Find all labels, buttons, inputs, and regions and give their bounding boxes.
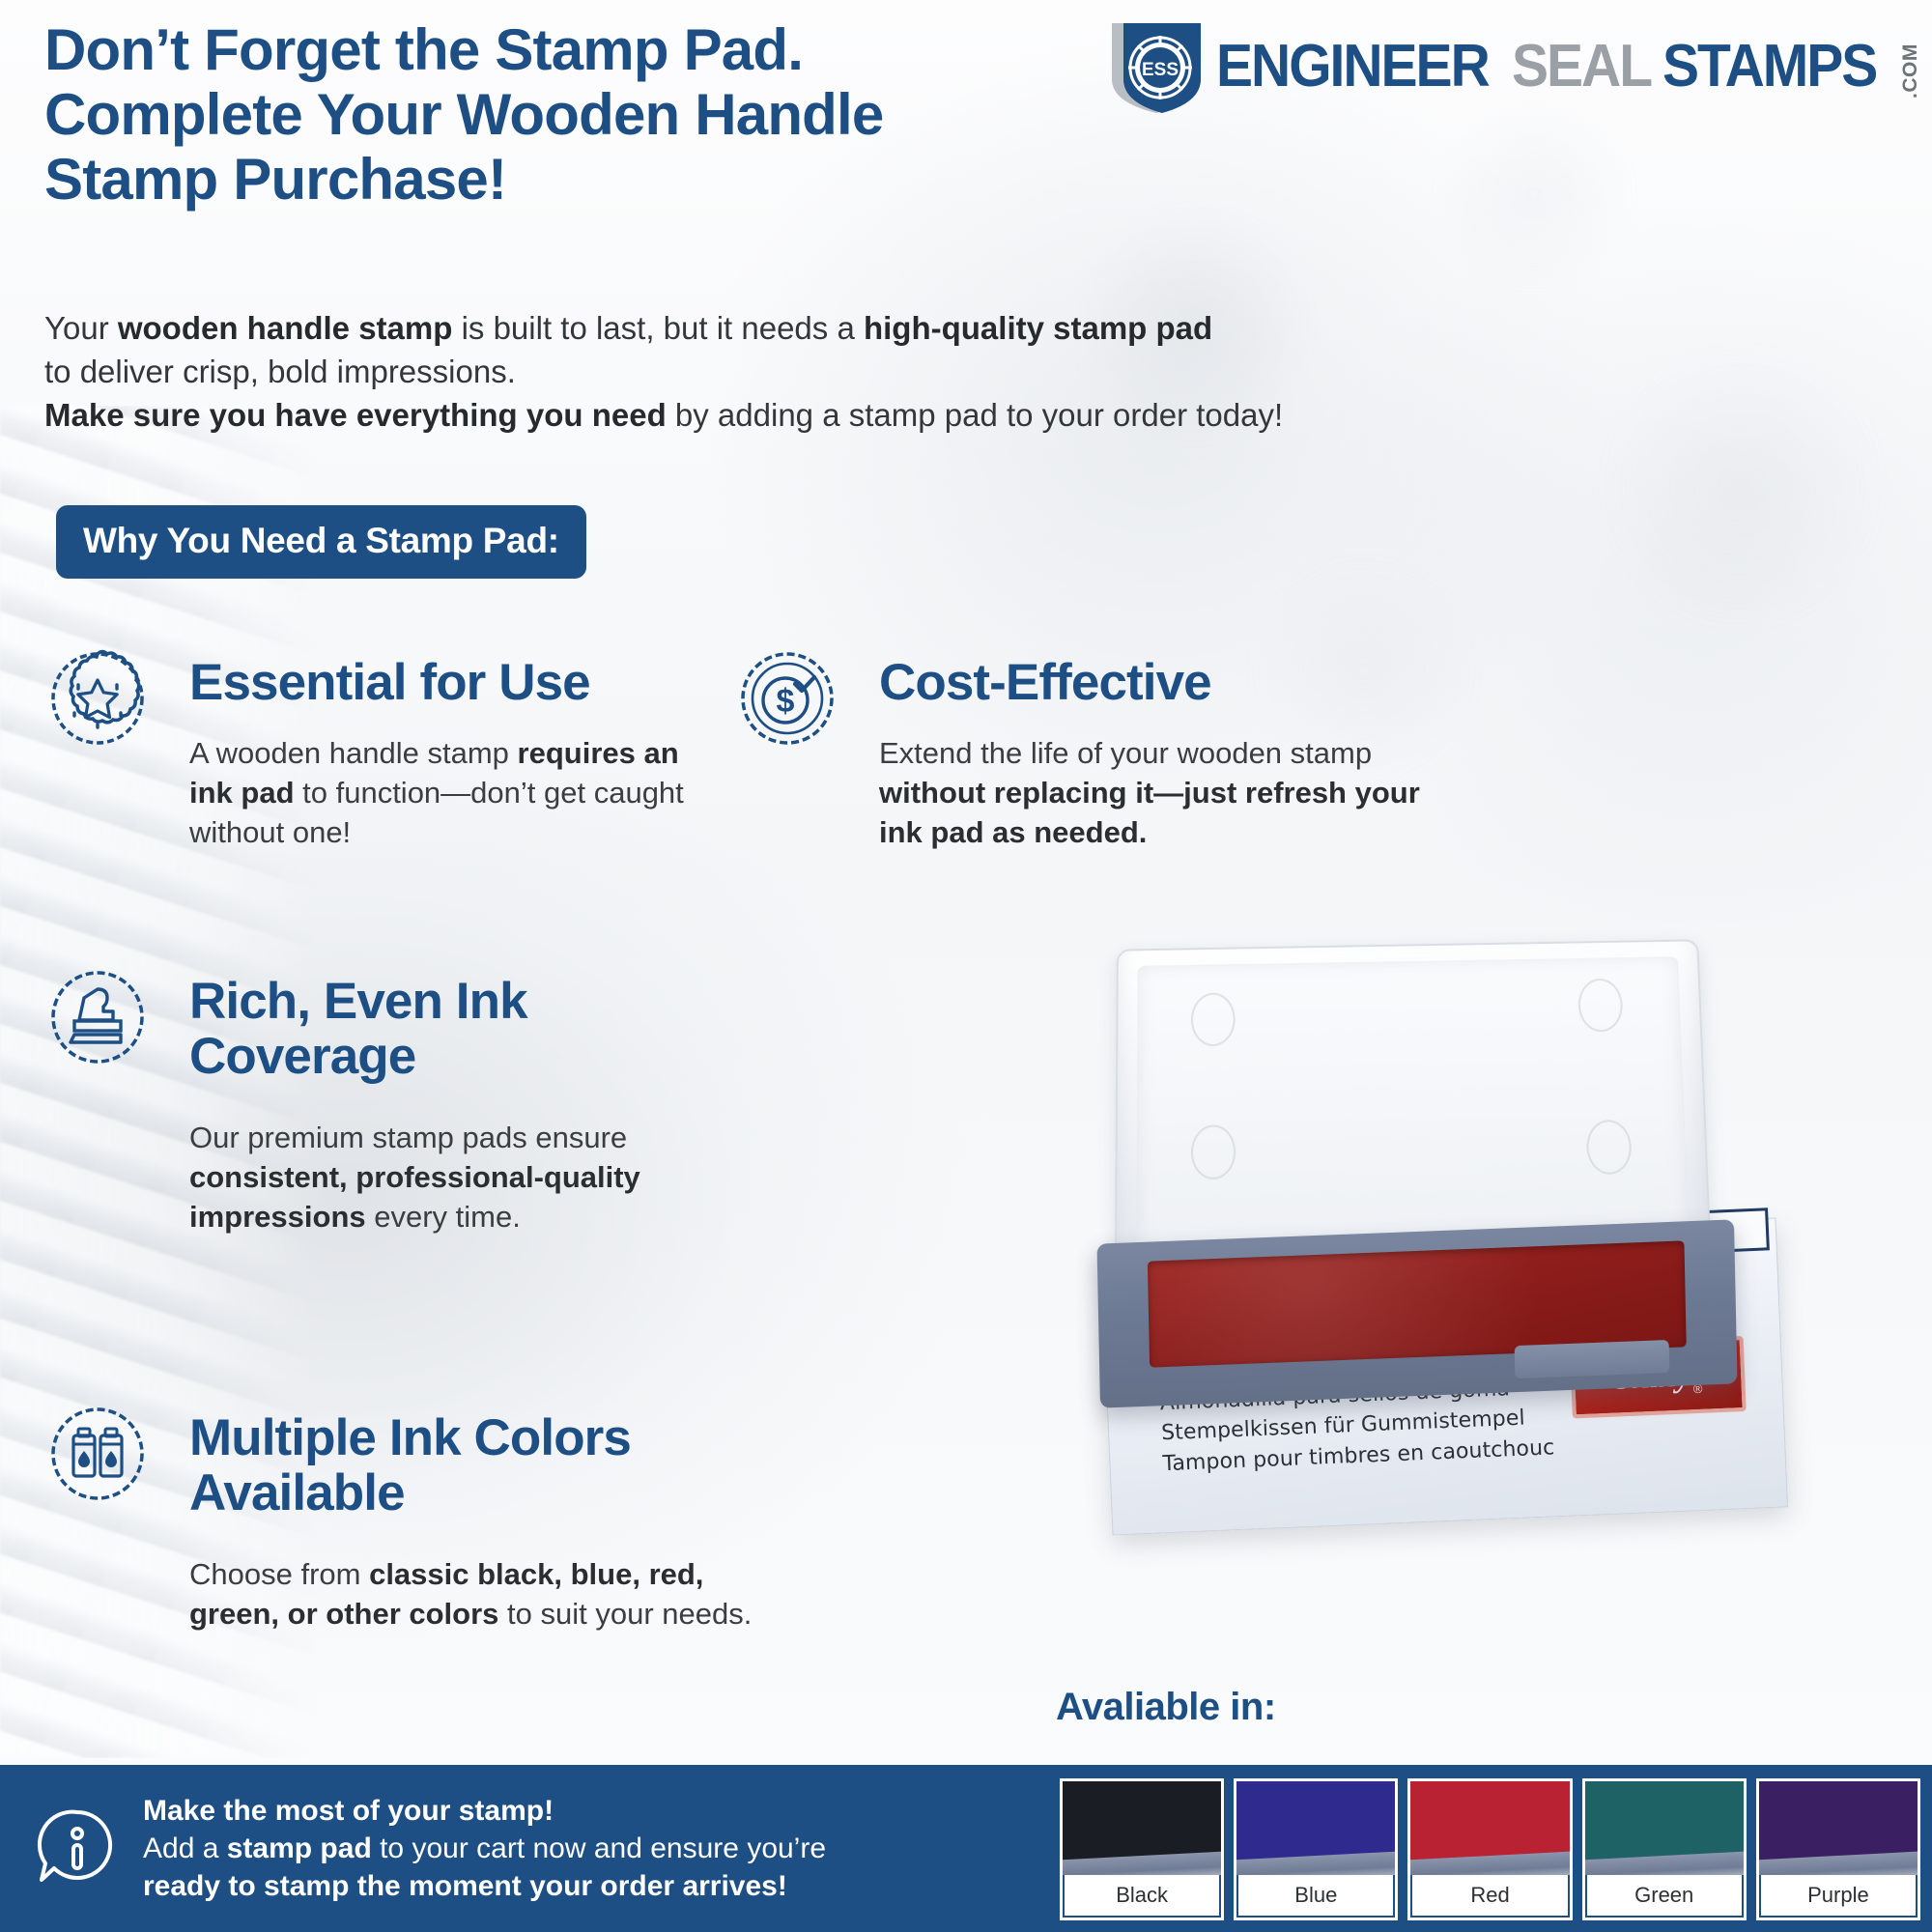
swatch-label: Green bbox=[1585, 1875, 1744, 1918]
swatch-color-black bbox=[1063, 1781, 1221, 1875]
headline-line-1: Don’t Forget the Stamp Pad. bbox=[44, 17, 962, 82]
lid-dimple bbox=[1191, 1124, 1236, 1179]
logo-stamps: STAMPS bbox=[1662, 37, 1876, 97]
cta-banner: Make the most of your stamp! Add a stamp… bbox=[0, 1765, 1048, 1932]
logo-seal-word: SEAL bbox=[1512, 37, 1651, 97]
swatch-label: Blue bbox=[1236, 1875, 1395, 1918]
background-blur-right bbox=[985, 0, 1932, 1082]
ess-seal-icon: ESS bbox=[1106, 19, 1207, 116]
feature-title: Essential for Use bbox=[189, 655, 590, 710]
intro-line-3: Make sure you have everything you need b… bbox=[44, 394, 1397, 438]
swatch-color-red bbox=[1410, 1781, 1569, 1875]
cta-text: Make the most of your stamp! Add a stamp… bbox=[143, 1792, 826, 1905]
cta-line-3: ready to stamp the moment your order arr… bbox=[143, 1867, 826, 1905]
swatch-red[interactable]: Red bbox=[1407, 1778, 1572, 1920]
logo-wordmark: ENGINEER SEAL STAMPS .COM bbox=[1216, 37, 1922, 99]
feature-body: Our premium stamp pads ensure consistent… bbox=[189, 1119, 788, 1237]
swatch-label: Purple bbox=[1759, 1875, 1918, 1918]
headline-line-2: Complete Your Wooden Handle bbox=[44, 82, 962, 147]
ink-bottles-badge-icon bbox=[44, 1401, 151, 1507]
swatch-label: Black bbox=[1063, 1875, 1221, 1918]
info-bubble-icon bbox=[33, 1804, 122, 1893]
intro-paragraph: Your wooden handle stamp is built to las… bbox=[44, 307, 1397, 438]
dollar-check-badge-icon: $ bbox=[734, 645, 840, 752]
swatch-blue[interactable]: Blue bbox=[1234, 1778, 1398, 1920]
cta-line-1: Make the most of your stamp! bbox=[143, 1792, 826, 1830]
swatch-label: Red bbox=[1410, 1875, 1569, 1918]
intro-line-1: Your wooden handle stamp is built to las… bbox=[44, 307, 1397, 351]
feature-title: Rich, Even Ink Coverage bbox=[189, 974, 692, 1084]
feature-title: Cost-Effective bbox=[879, 655, 1211, 710]
stamp-pad-lid-inner bbox=[1136, 956, 1690, 1255]
lid-dimple bbox=[1586, 1120, 1633, 1175]
intro-line-2: to deliver crisp, bold impressions. bbox=[44, 351, 1397, 394]
page-title: Don’t Forget the Stamp Pad. Complete You… bbox=[44, 17, 962, 213]
swatch-green[interactable]: Green bbox=[1582, 1778, 1747, 1920]
swatch-color-blue bbox=[1236, 1781, 1395, 1875]
headline-line-3: Stamp Purchase! bbox=[44, 147, 962, 212]
section-banner: Why You Need a Stamp Pad: bbox=[56, 505, 586, 579]
rubber-stamp-badge-icon bbox=[44, 964, 151, 1070]
stamp-pad-lid bbox=[1115, 939, 1712, 1267]
ess-seal-text: ESS bbox=[1142, 60, 1179, 80]
infographic-page: Don’t Forget the Stamp Pad. Complete You… bbox=[0, 0, 1932, 1932]
feature-body: Extend the life of your wooden stamp wit… bbox=[879, 734, 1884, 853]
swatch-color-green bbox=[1585, 1781, 1744, 1875]
available-in-title: Avaliable in: bbox=[1056, 1686, 1276, 1729]
stamp-pad-latch bbox=[1515, 1340, 1670, 1378]
cta-line-2: Add a stamp pad to your cart now and ens… bbox=[143, 1830, 826, 1867]
svg-text:$: $ bbox=[777, 683, 795, 720]
feature-title: Multiple Ink Colors Available bbox=[189, 1410, 769, 1520]
feature-body: Choose from classic black, blue, red, gr… bbox=[189, 1555, 846, 1634]
star-badge-icon bbox=[44, 645, 151, 752]
product-photo: Stamp pad for rubber stamps Almohadilla … bbox=[1077, 942, 1840, 1541]
logo-com: .COM bbox=[1899, 39, 1922, 99]
stamp-pad-base bbox=[1096, 1219, 1737, 1407]
brand-logo[interactable]: ESS ENGINEER SEAL STAMPS .COM bbox=[927, 19, 1922, 116]
swatch-color-purple bbox=[1759, 1781, 1918, 1875]
logo-engineer: ENGINEER bbox=[1216, 37, 1489, 97]
lid-dimple bbox=[1577, 979, 1623, 1033]
lid-dimple bbox=[1191, 992, 1236, 1046]
color-swatch-strip: Black Blue Red Green Purple bbox=[1048, 1765, 1932, 1932]
feature-body: A wooden handle stamp requires an ink pa… bbox=[189, 734, 788, 853]
swatch-black[interactable]: Black bbox=[1060, 1778, 1224, 1920]
swatch-purple[interactable]: Purple bbox=[1756, 1778, 1920, 1920]
